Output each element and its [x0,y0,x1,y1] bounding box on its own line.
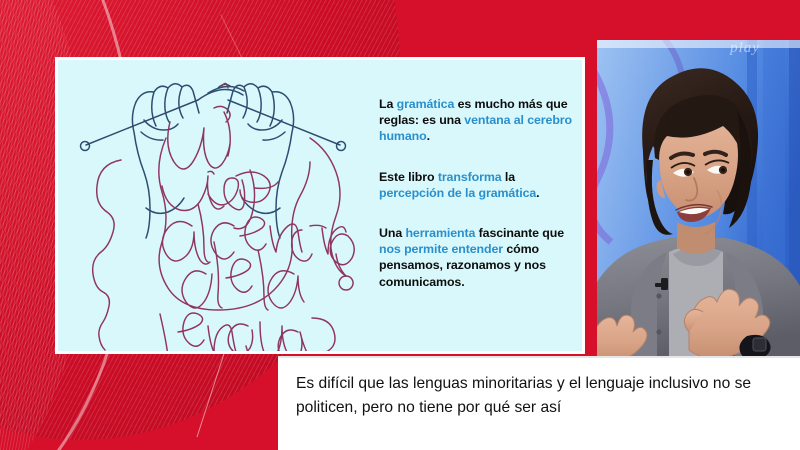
blurb-highlight: nos permite entender [379,242,503,256]
screenshot-root: La gramática es mucho más que reglas: es… [0,0,800,450]
blurb-text: La [379,97,397,111]
blurb-text: . [536,186,539,200]
blurb-text: fascinante que [475,226,564,240]
blurb-item-1: La gramática es mucho más que reglas: es… [379,96,580,145]
portrait-top-strip [597,40,800,48]
guest-speaker-portrait [597,40,800,358]
blurb-text: Este libro [379,170,438,184]
blurb-list: La gramática es mucho más que reglas: es… [373,60,582,351]
book-promo-card: La gramática es mucho más que reglas: es… [55,57,585,354]
blurb-highlight: transforma [438,170,502,184]
blurb-item-2: Este libro transforma la percepción de l… [379,169,580,201]
book-cover-illustration [58,60,363,351]
blurb-highlight: herramienta [405,226,475,240]
blurb-highlight: percepción de la gramática [379,186,536,200]
caption-bar: Es difícil que las lenguas minoritarias … [278,358,800,450]
book-promo-card-inner: La gramática es mucho más que reglas: es… [58,60,582,351]
blurb-text: . [427,129,430,143]
blurb-item-3: Una herramienta fascinante que nos permi… [379,225,580,290]
blurb-highlight: gramática [397,97,455,111]
blurb-text: Una [379,226,405,240]
blurb-text: la [502,170,515,184]
caption-text: Es difícil que las lenguas minoritarias … [296,372,782,419]
